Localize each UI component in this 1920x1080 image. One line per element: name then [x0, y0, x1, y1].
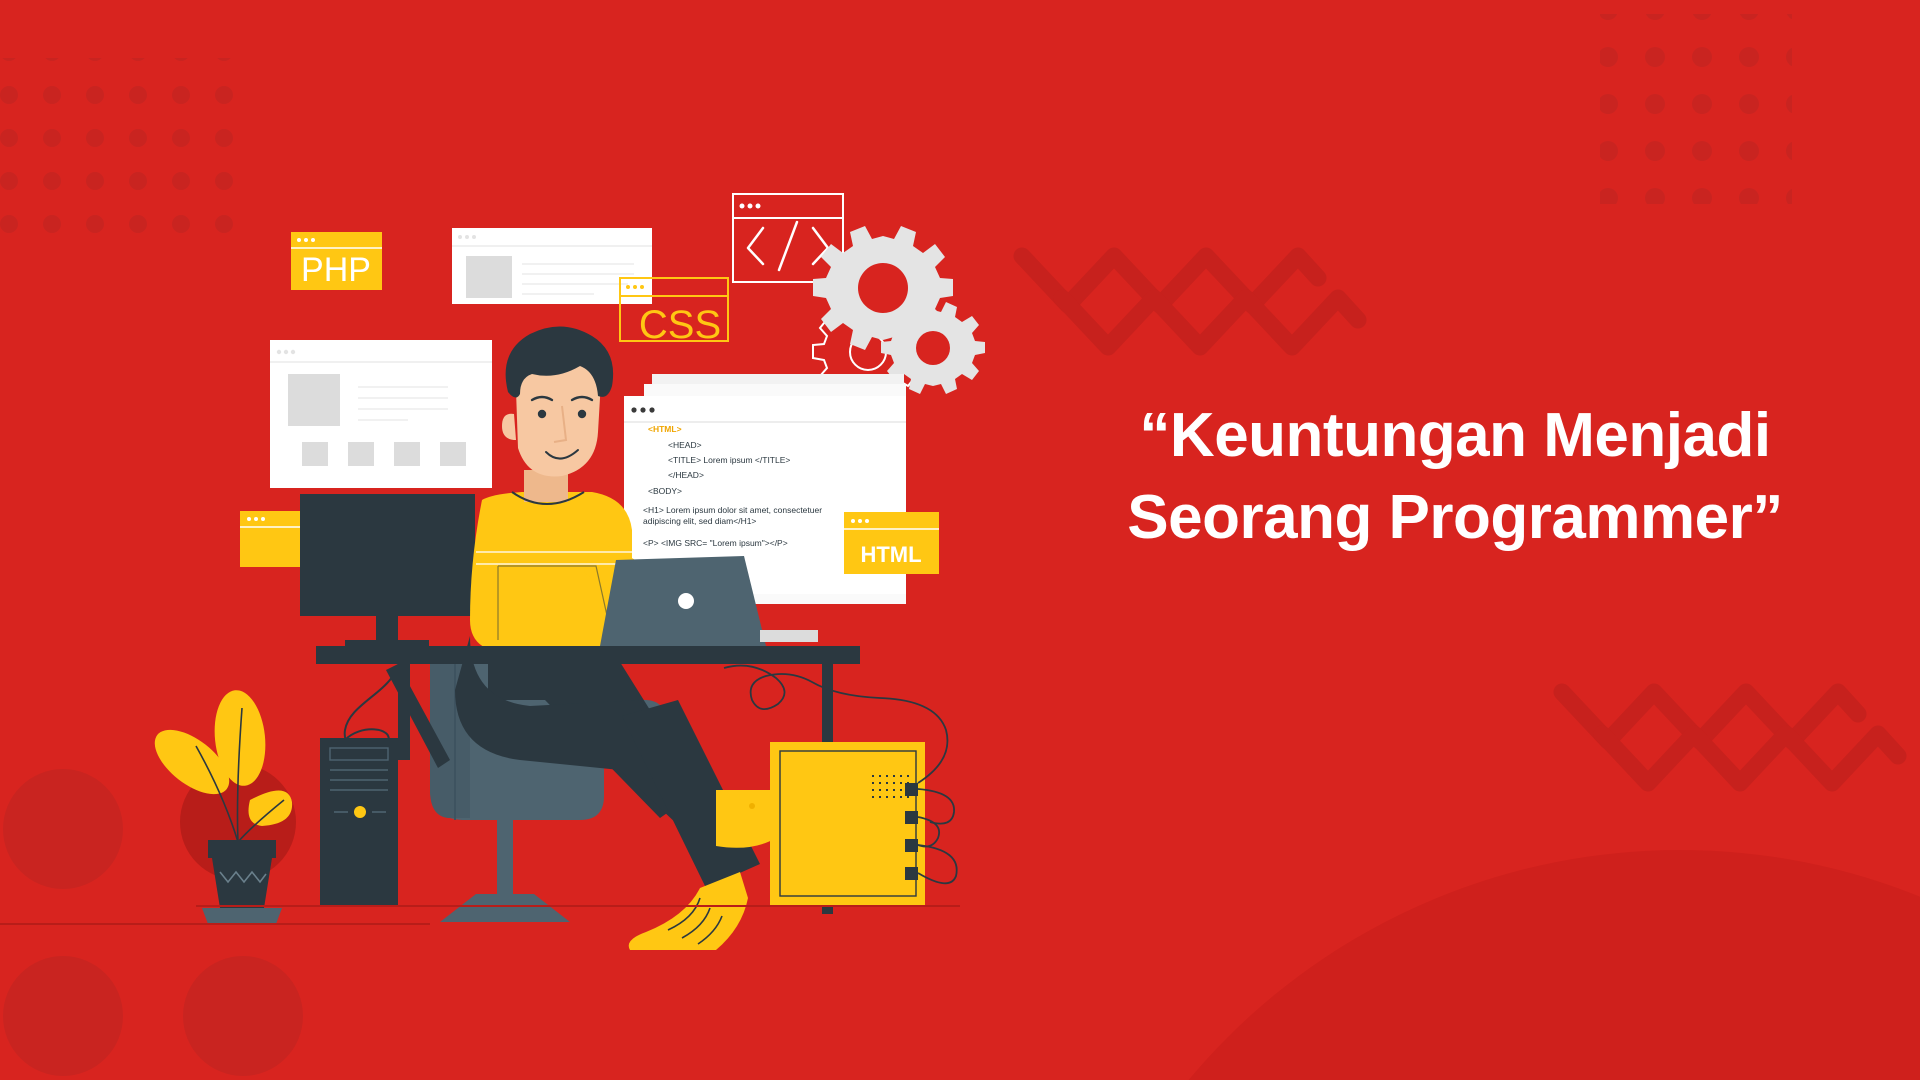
code-line-1: <HEAD>	[668, 440, 702, 450]
html-badge-label: HTML	[860, 542, 921, 567]
pc-tower	[320, 738, 398, 906]
browser-window-top	[452, 228, 652, 304]
code-line-3: </HEAD>	[668, 470, 704, 480]
html-badge-window: HTML	[844, 512, 939, 574]
css-badge-label: CSS	[639, 303, 721, 347]
php-badge-label: PHP	[301, 251, 371, 289]
code-line-5: <H1> Lorem ipsum dolor sit amet, consect…	[643, 505, 822, 515]
css-badge-window: CSS	[620, 278, 728, 347]
browser-window-left	[270, 340, 492, 488]
code-tag-window	[733, 194, 843, 282]
code-tag-icon	[748, 222, 828, 270]
php-badge-window: PHP	[291, 232, 382, 290]
server-box	[724, 666, 957, 905]
page-title: “Keuntungan Menjadi Seorang Programmer”	[1060, 395, 1850, 559]
code-line-0: <HTML>	[648, 424, 682, 434]
laptop	[600, 556, 766, 646]
code-line-6: adipiscing elit, sed diam</H1>	[643, 516, 756, 526]
code-line-4: <BODY>	[648, 486, 682, 496]
potted-plant	[144, 688, 296, 924]
code-line-7: <P> <IMG SRC= "Lorem ipsum"></P>	[643, 538, 788, 548]
poster-canvas: PHP CSS	[0, 0, 1920, 1080]
power-button-dot	[354, 806, 366, 818]
laptop-logo-dot	[678, 593, 694, 609]
code-line-2: <TITLE> Lorem ipsum </TITLE>	[668, 455, 790, 465]
monitor	[300, 494, 475, 652]
desk-papers	[760, 630, 818, 642]
